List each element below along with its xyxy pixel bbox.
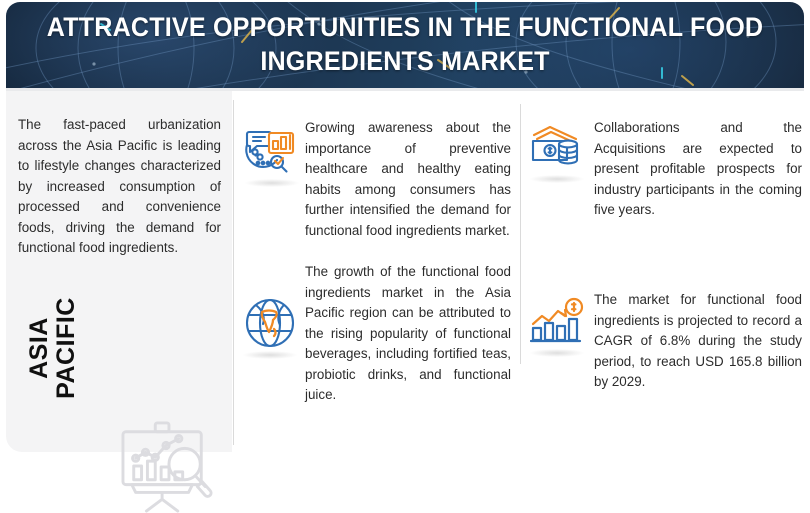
- market-research-icon: [243, 120, 301, 178]
- bullet-item-collaborations: Collaborations and the Acquisitions are …: [530, 118, 802, 221]
- bullet-text: Collaborations and the Acquisitions are …: [594, 118, 802, 221]
- money-coins-icon: [530, 120, 584, 174]
- bullet-item-cagr-forecast: The market for functional food ingredien…: [530, 290, 802, 393]
- left-panel-paragraph: The fast-paced urbanization across the A…: [18, 115, 221, 259]
- bullet-item-asia-pacific-growth: The growth of the functional food ingred…: [243, 262, 511, 406]
- region-label: ASIA PACIFIC: [26, 273, 80, 423]
- bullet-item-awareness: Growing awareness about the importance o…: [243, 118, 511, 241]
- icon-shadow: [530, 175, 584, 183]
- header-banner: ATTRACTIVE OPPORTUNITIES IN THE FUNCTION…: [6, 2, 804, 88]
- icon-shadow: [245, 179, 299, 187]
- infographic-card: ATTRACTIVE OPPORTUNITIES IN THE FUNCTION…: [0, 0, 810, 459]
- left-region-panel: The fast-paced urbanization across the A…: [6, 91, 232, 452]
- column-divider-left: [233, 100, 234, 445]
- icon-shadow: [530, 349, 584, 357]
- bullet-text: The market for functional food ingredien…: [594, 290, 802, 393]
- icon-shadow: [243, 351, 297, 359]
- column-divider-right: [520, 104, 521, 364]
- growth-chart-dollar-icon: [530, 294, 584, 348]
- bullet-text: The growth of the functional food ingred…: [305, 262, 511, 406]
- page-title: ATTRACTIVE OPPORTUNITIES IN THE FUNCTION…: [34, 10, 776, 78]
- bullet-text: Growing awareness about the importance o…: [305, 118, 511, 241]
- presentation-analytics-icon: [118, 421, 216, 513]
- globe-icon: [243, 296, 297, 350]
